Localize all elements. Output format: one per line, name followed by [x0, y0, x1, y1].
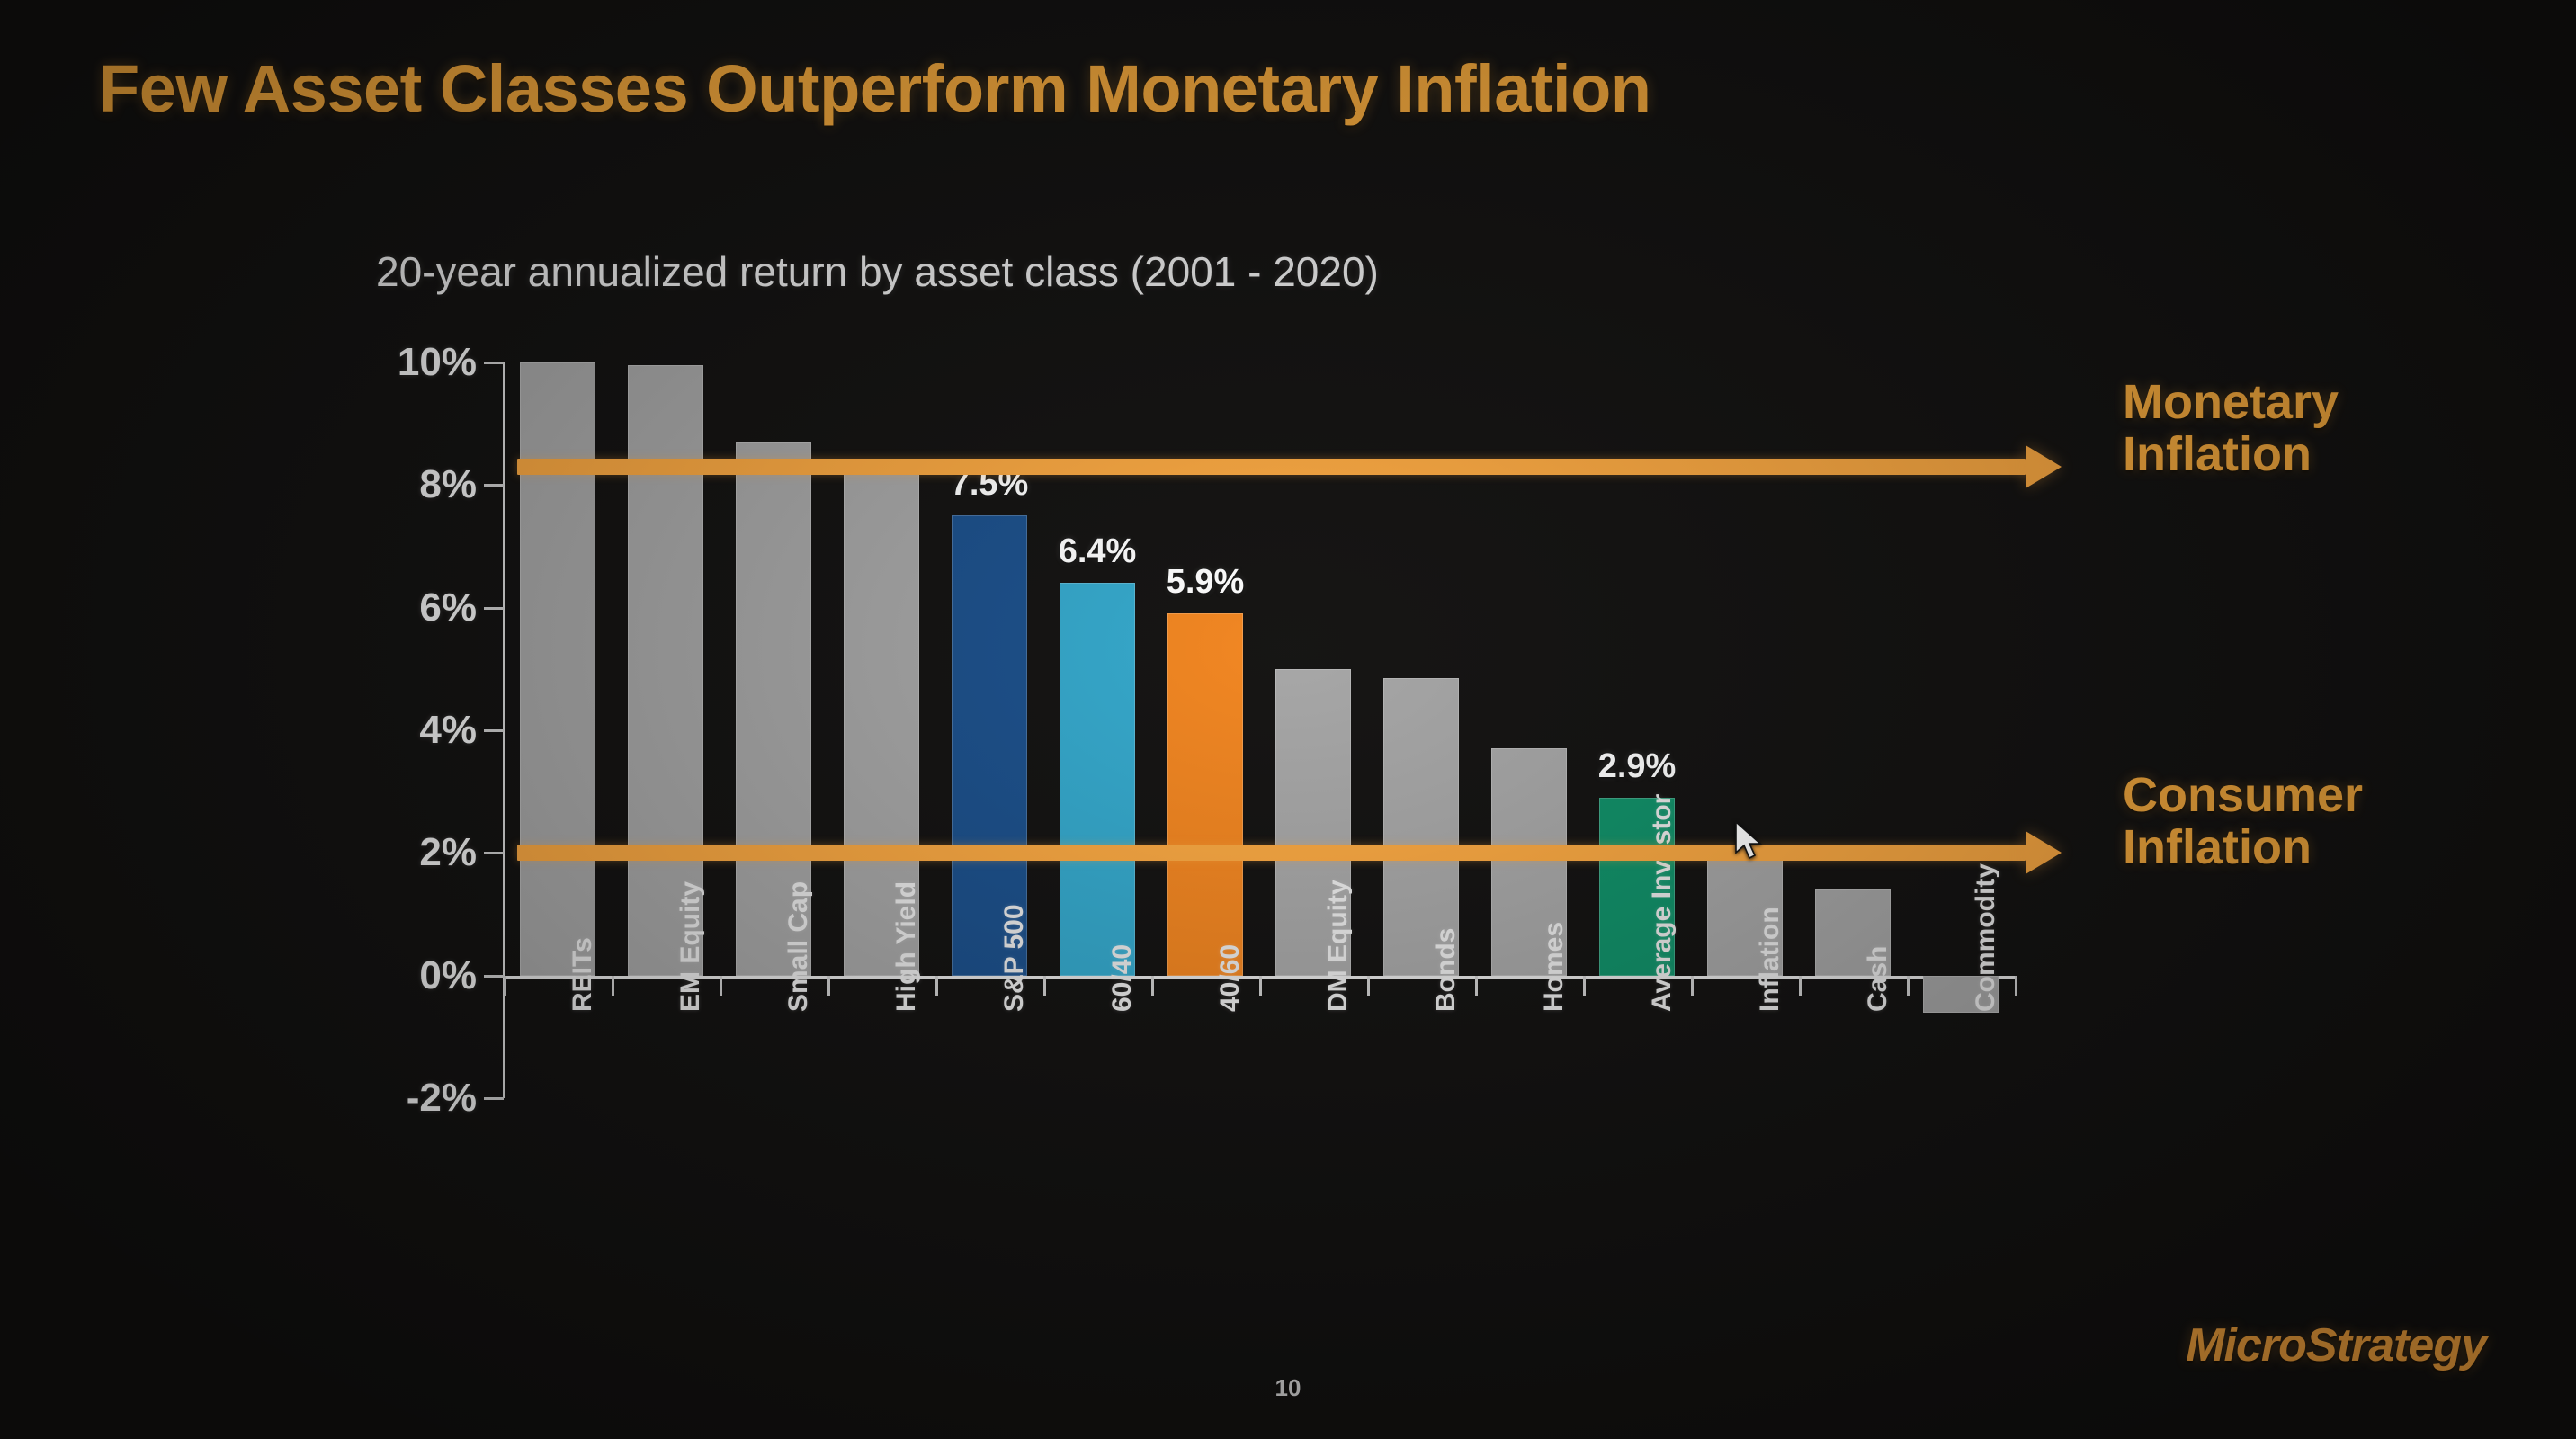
y-axis-tick: [484, 484, 504, 487]
x-axis-label-homes: Homes: [1539, 922, 1570, 1012]
x-axis-label-inflation: Inflation: [1755, 907, 1785, 1012]
consumer-inflation-label-line2: Inflation: [2123, 821, 2363, 873]
x-axis-label-reits: REITs: [568, 937, 598, 1012]
arrow-shaft: [517, 845, 2026, 861]
arrow-shaft: [517, 459, 2026, 475]
x-axis-label-commodity: Commodity: [1971, 863, 2001, 1012]
page-number: 10: [0, 1374, 2576, 1402]
x-axis-tick: [1367, 976, 1370, 996]
x-axis-tick: [1691, 976, 1694, 996]
chart-subtitle: 20-year annualized return by asset class…: [376, 247, 1379, 296]
x-axis-tick: [1259, 976, 1262, 996]
page-title: Few Asset Classes Outperform Monetary In…: [99, 50, 1650, 127]
x-axis-tick: [1799, 976, 1802, 996]
x-axis-label-bonds: Bonds: [1431, 928, 1462, 1012]
y-axis-tick-label: -2%: [297, 1076, 477, 1121]
bar-value-label: 2.9%: [1598, 747, 1677, 786]
bar-60-40[interactable]: [1060, 583, 1135, 975]
x-axis-label-em-equity: EM Equity: [675, 881, 706, 1012]
x-axis-tick: [1907, 976, 1910, 996]
x-axis-tick: [504, 976, 506, 996]
monetary-inflation-label-line2: Inflation: [2123, 428, 2339, 480]
y-axis-tick-label: 0%: [297, 953, 477, 998]
bar-40-60[interactable]: [1167, 613, 1243, 975]
x-axis-tick: [935, 976, 938, 996]
monetary-inflation-label-line1: Monetary: [2123, 376, 2339, 428]
x-axis-tick: [1583, 976, 1586, 996]
y-axis-tick: [484, 362, 504, 364]
y-axis-tick: [484, 607, 504, 610]
x-axis-label-cash: Cash: [1863, 946, 1893, 1012]
x-axis-tick: [612, 976, 614, 996]
x-axis-label-average-investor: Average Investor: [1647, 794, 1677, 1012]
x-axis-label-40-60: 40/60: [1215, 944, 1246, 1012]
arrow-head-icon: [2026, 831, 2062, 874]
y-axis-tick: [484, 852, 504, 854]
bar-reits[interactable]: [520, 362, 595, 976]
x-axis-label-60-40: 60/40: [1107, 944, 1138, 1012]
x-axis-label-high-yield: High Yield: [891, 881, 922, 1012]
x-axis-tick: [2015, 976, 2017, 996]
x-axis-label-small-cap: Small Cap: [783, 881, 814, 1012]
y-axis-tick-label: 4%: [297, 708, 477, 753]
y-axis-tick-label: 8%: [297, 462, 477, 507]
bar-value-label: 6.4%: [1059, 532, 1137, 571]
x-axis-tick: [827, 976, 830, 996]
x-axis-label-s-p-500: S&P 500: [999, 904, 1030, 1012]
consumer-inflation-label-line1: Consumer: [2123, 769, 2363, 821]
y-axis-tick-label: 10%: [297, 340, 477, 385]
bar-value-label: 5.9%: [1167, 563, 1245, 602]
consumer-inflation-label: Consumer Inflation: [2123, 769, 2363, 874]
x-axis-tick: [720, 976, 722, 996]
arrow-head-icon: [2026, 445, 2062, 488]
x-axis-label-dm-equity: DM Equity: [1323, 880, 1354, 1012]
y-axis-tick: [484, 975, 504, 978]
monetary-inflation-label: Monetary Inflation: [2123, 376, 2339, 481]
microstrategy-logo: MicroStrategy: [2186, 1318, 2486, 1372]
y-axis-tick-label: 6%: [297, 585, 477, 630]
y-axis-tick: [484, 1097, 504, 1100]
y-axis-tick: [484, 729, 504, 732]
x-axis-tick: [1151, 976, 1154, 996]
x-axis-tick: [1475, 976, 1478, 996]
x-axis-tick: [1043, 976, 1046, 996]
y-axis-tick-label: 2%: [297, 830, 477, 875]
